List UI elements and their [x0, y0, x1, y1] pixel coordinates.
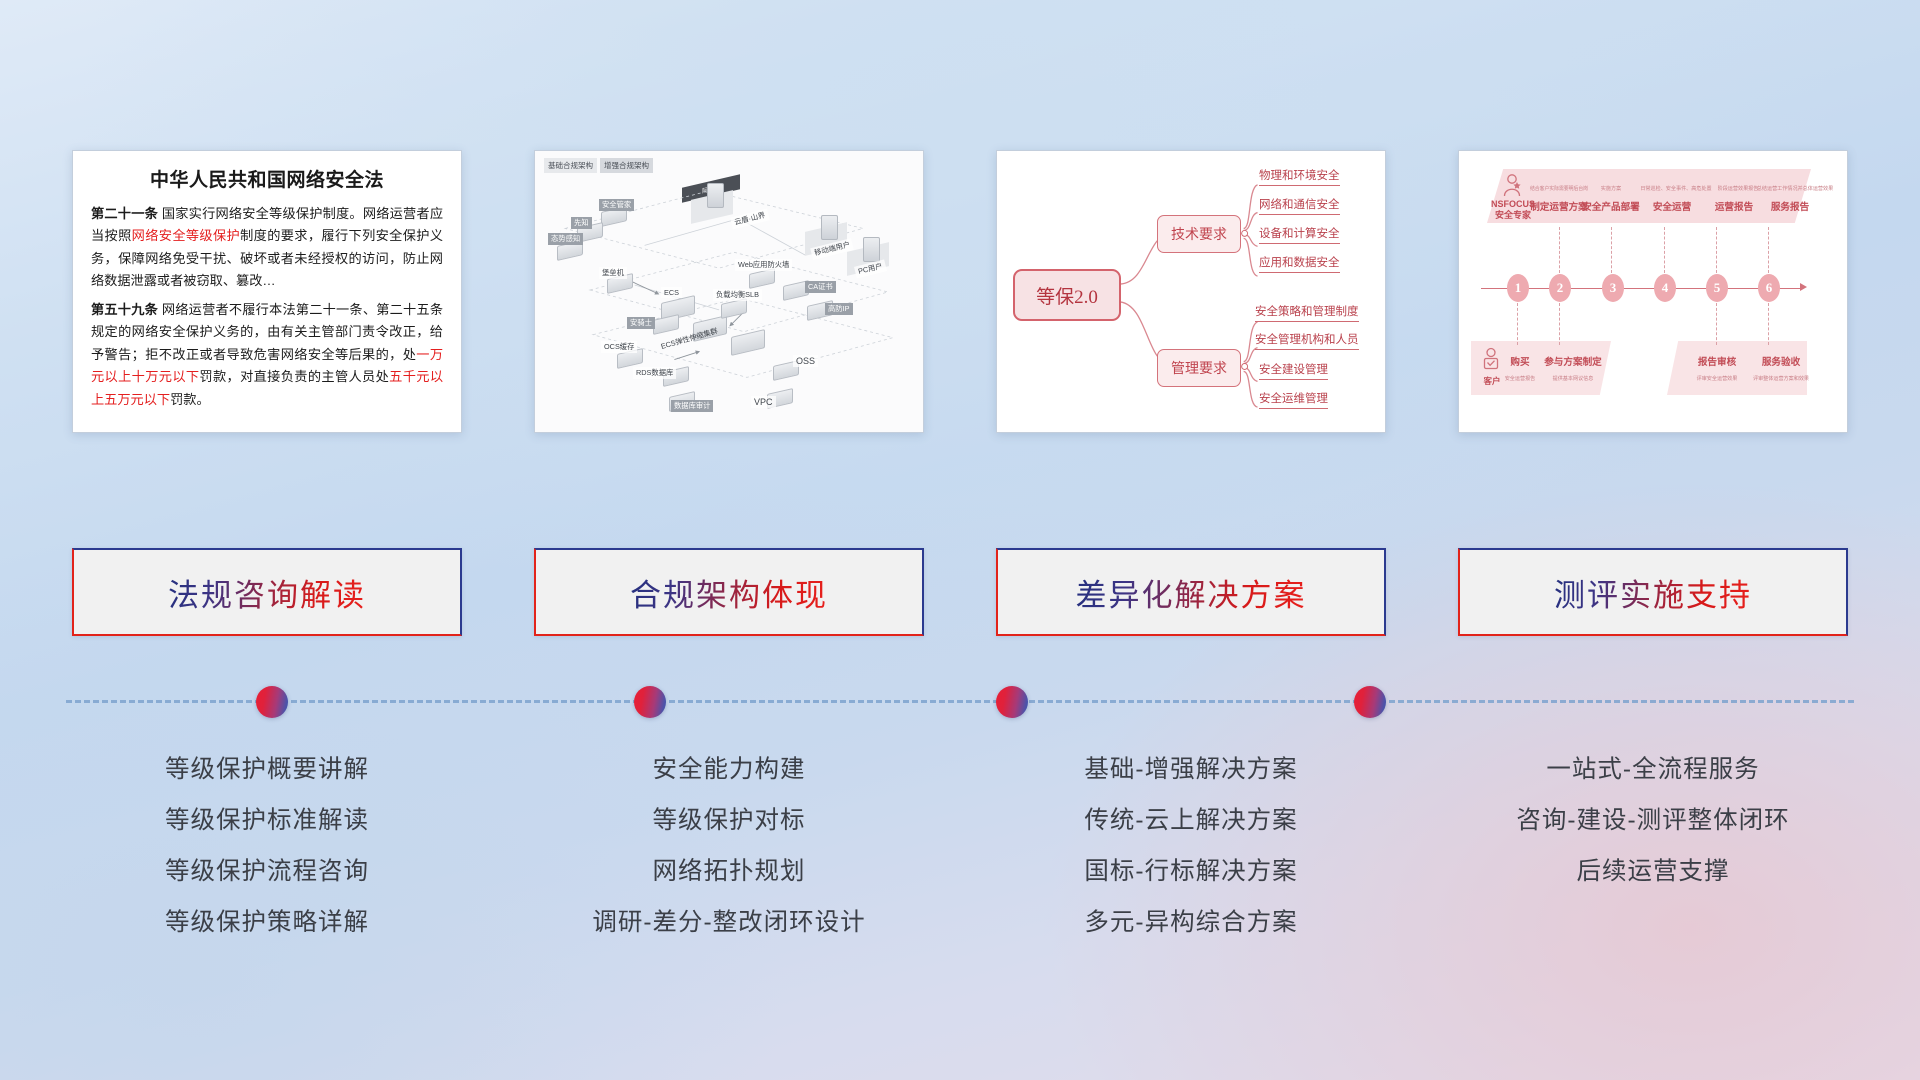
mindmap-leaf[interactable]: 安全管理机构和人员: [1255, 331, 1359, 350]
timeline-axis: [1481, 288, 1801, 289]
card-law-document[interactable]: 中华人民共和国网络安全法 第二十一条 国家实行网络安全等级保护制度。网络运营者应…: [72, 150, 462, 433]
timeline-bottom-sub: 提供基本网议信息: [1539, 375, 1607, 382]
timeline-bottom-band-right: [1667, 341, 1807, 395]
arch-node-label: CA证书: [805, 281, 836, 293]
arch-node-label: 安骑士: [627, 317, 655, 329]
law-seg-highlight: 网络安全等级保护: [132, 228, 240, 243]
timeline-step-node[interactable]: 5: [1706, 274, 1728, 302]
customer-person-icon: [1481, 347, 1501, 373]
law-seg: 罚款，对直接负责的主管人员处: [199, 369, 389, 384]
list-item[interactable]: 等级保护流程咨询: [72, 846, 462, 897]
timeline-bottom-sub: 评审安全运营效果: [1683, 375, 1751, 382]
timeline-step-node[interactable]: 2: [1549, 274, 1571, 302]
timeline-bottom-stage: 参与方案制定: [1539, 354, 1607, 368]
timeline-bottom-stage: 报告审核: [1687, 354, 1747, 368]
section-items-regulation: 等级保护概要讲解 等级保护标准解读 等级保护流程咨询 等级保护策略详解: [72, 744, 462, 948]
arch-node-label: 数据库审计: [671, 400, 713, 412]
timeline-marker-dot[interactable]: [1354, 686, 1386, 718]
timeline-marker-dot[interactable]: [996, 686, 1028, 718]
section-titles-row: 法规咨询解读 合规架构体现 差异化解决方案 测评实施支持: [72, 548, 1848, 636]
mindmap-branch-management[interactable]: 管理要求: [1157, 349, 1241, 387]
law-title: 中华人民共和国网络安全法: [91, 165, 443, 192]
list-item[interactable]: 后续运营支撑: [1458, 846, 1848, 897]
list-item[interactable]: 网络拓扑规划: [534, 846, 924, 897]
arch-node-label: 负载均衡SLB: [713, 289, 762, 301]
list-item[interactable]: 传统-云上解决方案: [996, 795, 1386, 846]
law-paragraph-59: 第五十九条 网络运营者不履行本法第二十一条、第二十五条规定的网络安全保护义务的，…: [91, 299, 443, 411]
timeline-marker-dot[interactable]: [634, 686, 666, 718]
timeline-top-stage: 服务报告: [1759, 199, 1821, 213]
timeline-arrow-icon: [1800, 283, 1807, 291]
mindmap-leaf[interactable]: 物理和环境安全: [1259, 167, 1340, 186]
mindmap-leaf[interactable]: 应用和数据安全: [1259, 254, 1340, 273]
list-item[interactable]: 咨询-建设-测评整体闭环: [1458, 795, 1848, 846]
slide-canvas: 中华人民共和国网络安全法 第二十一条 国家实行网络安全等级保护制度。网络运营者应…: [0, 0, 1920, 1080]
list-item[interactable]: 基础-增强解决方案: [996, 744, 1386, 795]
timeline-top-stage: 安全运营: [1639, 199, 1705, 213]
law-article-number: 第五十九条: [91, 302, 158, 317]
mindmap-leaf[interactable]: 安全运维管理: [1259, 390, 1328, 409]
list-item[interactable]: 一站式-全流程服务: [1458, 744, 1848, 795]
timeline-top-stage: 安全产品部署: [1577, 199, 1645, 213]
card-service-timeline[interactable]: NSFOCUS 安全专家 客户 1 2: [1458, 150, 1848, 433]
arch-node-label: 态势感知: [548, 233, 583, 245]
mindmap-leaf[interactable]: 安全策略和管理制度: [1255, 303, 1359, 322]
progress-timeline: [66, 700, 1854, 704]
list-item[interactable]: 等级保护策略详解: [72, 897, 462, 948]
law-paragraph-21: 第二十一条 国家实行网络安全等级保护制度。网络运营者应当按照网络安全等级保护制度…: [91, 203, 443, 293]
arch-node-label: RDS数据库: [633, 367, 676, 379]
law-seg: 罚款。: [170, 392, 210, 407]
arch-node-label: VPC: [751, 396, 776, 408]
mindmap-leaf[interactable]: 安全建设管理: [1259, 361, 1328, 380]
arch-node-label: 安全管家: [599, 199, 634, 211]
section-title-label: 法规咨询解读: [168, 570, 366, 615]
section-title-box-solution[interactable]: 差异化解决方案: [996, 548, 1386, 636]
law-article-number: 第二十一条: [91, 206, 158, 221]
list-item[interactable]: 安全能力构建: [534, 744, 924, 795]
list-item[interactable]: 调研-差分-整改闭环设计: [534, 897, 924, 948]
timeline-step-node[interactable]: 1: [1507, 274, 1529, 302]
section-items-evaluation: 一站式-全流程服务 咨询-建设-测评整体闭环 后续运营支撑: [1458, 744, 1848, 948]
list-item[interactable]: 多元-异构综合方案: [996, 897, 1386, 948]
arch-node-label: 堡垒机: [599, 267, 627, 279]
card-mind-map[interactable]: 等保2.0 技术要求 管理要求 物理和环境安全 网络和通信安全 设备和计算安全 …: [996, 150, 1386, 433]
timeline-bottom-stage: 购买: [1499, 354, 1541, 368]
card-architecture-diagram[interactable]: 基础合规架构 增强合规架构 阿里云: [534, 150, 924, 433]
timeline-marker-dot[interactable]: [256, 686, 288, 718]
arch-node-label: Web应用防火墙: [735, 259, 792, 271]
section-title-label: 合规架构体现: [630, 570, 828, 615]
timeline-step-node[interactable]: 3: [1602, 274, 1624, 302]
section-items-row: 等级保护概要讲解 等级保护标准解读 等级保护流程咨询 等级保护策略详解 安全能力…: [72, 744, 1848, 948]
arch-node-label: OSS: [793, 355, 818, 367]
list-item[interactable]: 等级保护概要讲解: [72, 744, 462, 795]
section-title-box-architecture[interactable]: 合规架构体现: [534, 548, 924, 636]
timeline-bottom-sub: 评审整体运营方案和效果: [1745, 375, 1817, 382]
mindmap-root-node[interactable]: 等保2.0: [1013, 269, 1121, 321]
mindmap-leaf[interactable]: 网络和通信安全: [1259, 196, 1340, 215]
timeline-step-node[interactable]: 6: [1758, 274, 1780, 302]
list-item[interactable]: 国标-行标解决方案: [996, 846, 1386, 897]
arch-node-label: ECS: [661, 287, 682, 298]
timeline-dashed-line: [66, 700, 1854, 703]
reference-cards-row: 中华人民共和国网络安全法 第二十一条 国家实行网络安全等级保护制度。网络运营者应…: [72, 150, 1848, 440]
timeline-top-stage: 运营报告: [1703, 199, 1765, 213]
list-item[interactable]: 等级保护对标: [534, 795, 924, 846]
timeline-top-sub: 总结运营工作情况并总体运营效果: [1745, 185, 1845, 192]
timeline-step-node[interactable]: 4: [1654, 274, 1676, 302]
arch-node-label: 高防IP: [825, 303, 853, 315]
section-title-box-regulation[interactable]: 法规咨询解读: [72, 548, 462, 636]
arch-node-label: 先知: [571, 217, 592, 229]
section-title-label: 差异化解决方案: [1076, 570, 1307, 615]
mindmap-leaf[interactable]: 设备和计算安全: [1259, 225, 1340, 244]
section-title-box-evaluation[interactable]: 测评实施支持: [1458, 548, 1848, 636]
section-title-label: 测评实施支持: [1554, 570, 1752, 615]
section-items-solution: 基础-增强解决方案 传统-云上解决方案 国标-行标解决方案 多元-异构综合方案: [996, 744, 1386, 948]
list-item[interactable]: 等级保护标准解读: [72, 795, 462, 846]
section-items-architecture: 安全能力构建 等级保护对标 网络拓扑规划 调研-差分-整改闭环设计: [534, 744, 924, 948]
timeline-bottom-stage: 服务验收: [1751, 354, 1811, 368]
mindmap-branch-technical[interactable]: 技术要求: [1157, 215, 1241, 253]
arch-node-label: OCS缓存: [601, 341, 637, 353]
